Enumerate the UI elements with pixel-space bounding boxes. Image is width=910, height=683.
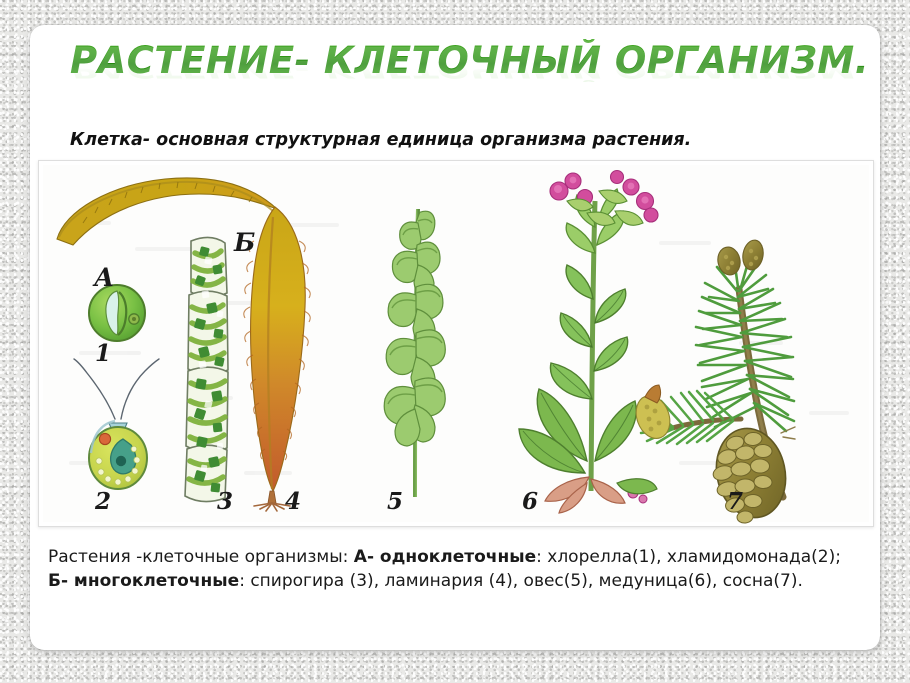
specimen-number-2: 2 bbox=[94, 488, 111, 515]
specimen-number-5: 5 bbox=[387, 488, 403, 515]
caption-bold-b: Б- многоклеточные bbox=[48, 571, 239, 591]
group-label-A: А bbox=[92, 263, 114, 292]
specimen-lungwort bbox=[519, 171, 658, 514]
caption-lead: Растения -клеточные организмы: bbox=[48, 547, 354, 567]
specimen-number-7: 7 bbox=[727, 488, 743, 515]
specimen-number-6: 6 bbox=[522, 488, 538, 515]
specimen-spirogyra bbox=[185, 237, 228, 501]
group-label-B: Б bbox=[233, 228, 255, 257]
specimen-oat bbox=[384, 209, 445, 497]
specimen-number-3: 3 bbox=[217, 488, 233, 515]
plant-diversity-illustration: А Б 1 2 3 4 5 6 7 bbox=[39, 161, 873, 526]
specimen-number-4: 4 bbox=[285, 488, 301, 515]
caption-bold-a: А- одноклеточные bbox=[354, 547, 536, 567]
pine-cone bbox=[708, 422, 793, 524]
subtitle-text: Клетка- основная структурная единица орг… bbox=[70, 130, 850, 150]
caption-mid-a: : хлорелла(1), хламидомонада(2); bbox=[536, 547, 841, 567]
title-area: РАСТЕНИЕ- КЛЕТОЧНЫЙ ОРГАНИЗМ. РАСТЕНИЕ- … bbox=[30, 39, 880, 111]
figure-caption: Растения -клеточные организмы: А- однокл… bbox=[48, 545, 848, 593]
specimen-number-1: 1 bbox=[95, 340, 111, 367]
lungwort-flowers bbox=[550, 171, 658, 226]
page-title: РАСТЕНИЕ- КЛЕТОЧНЫЙ ОРГАНИЗМ. bbox=[70, 39, 869, 82]
specimen-pine bbox=[630, 238, 795, 524]
oat-spikelets bbox=[384, 210, 445, 446]
specimen-chlorella bbox=[89, 285, 145, 341]
slide-card: РАСТЕНИЕ- КЛЕТОЧНЫЙ ОРГАНИЗМ. РАСТЕНИЕ- … bbox=[30, 25, 880, 650]
specimen-chlamydomonas bbox=[74, 359, 159, 489]
figure-panel: А Б 1 2 3 4 5 6 7 bbox=[38, 160, 874, 527]
caption-tail: : спирогира (3), ламинария (4), овес(5),… bbox=[239, 571, 803, 591]
